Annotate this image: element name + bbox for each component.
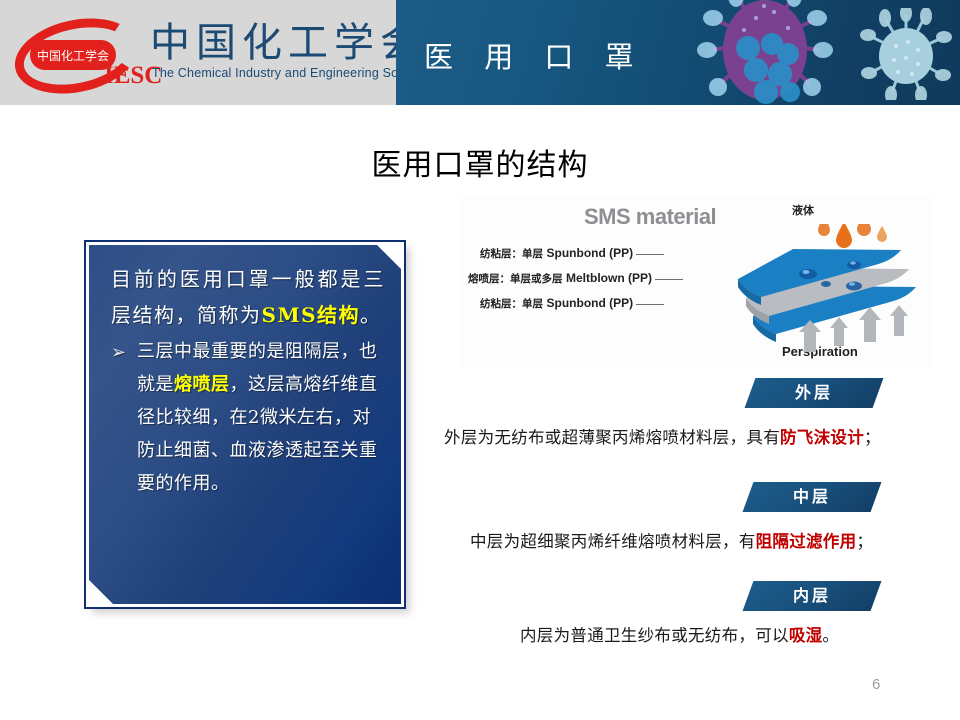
virus-blue-icon <box>858 8 954 100</box>
sms-layer-1-cn: 纺粘层：单层 <box>480 248 543 260</box>
logo-text-block: 中国化工学会 The Chemical Industry and Enginee… <box>150 0 396 105</box>
page-title: 医用口罩的结构 <box>0 140 960 184</box>
inner-text-a: 内层为普通卫生纱布或无纺布，可以 <box>520 626 789 645</box>
outer-text-b: ； <box>864 428 881 447</box>
header-banner: 医 用 口 罩 <box>396 0 960 105</box>
sms-layer-3-cn: 纺粘层：单层 <box>480 298 543 310</box>
sms-layers-illustration <box>658 224 932 364</box>
logo-area: 中国化工学会 IESC 中国化工学会 The Chemical Industry… <box>0 0 396 105</box>
inner-text-b: 。 <box>822 626 839 645</box>
middle-text-b: ； <box>856 532 873 551</box>
badge-middle-label: 中层 <box>748 482 876 512</box>
info-box-content: 目前的医用口罩一般都是三层结构，简称为SMS结构。 ➢三层中最重要的是阻隔层，也… <box>89 245 401 500</box>
sms-layer-label-1: 纺粘层：单层 Spunbond (PP) <box>480 246 664 261</box>
page-number: 6 <box>872 676 880 693</box>
badge-outer-layer: 外层 <box>745 378 884 408</box>
outer-text-a: 外层为无纺布或超薄聚丙烯熔喷材料层，具有 <box>444 428 780 447</box>
info-text-1b: 。 <box>360 303 382 327</box>
sms-layer-2-en: Meltblown (PP) <box>566 271 652 285</box>
sms-layer-label-3: 纺粘层：单层 Spunbond (PP) <box>480 296 664 311</box>
sms-layer-2-cn: 熔喷层：单层或多层 <box>468 273 563 285</box>
info-highlight-sms: SMS结构 <box>262 303 361 327</box>
virus-purple-icon <box>696 0 834 105</box>
sms-material-diagram: SMS material 纺粘层：单层 Spunbond (PP) 熔喷层：单层… <box>458 196 932 368</box>
society-logo-icon: 中国化工学会 IESC <box>0 0 150 105</box>
middle-layer-description: 中层为超细聚丙烯纤维熔喷材料层，有阻隔过滤作用； <box>470 528 960 556</box>
sms-layer-label-2: 熔喷层：单层或多层 Meltblown (PP) <box>468 271 683 286</box>
info-box-paragraph-1: 目前的医用口罩一般都是三层结构，简称为SMS结构。 <box>111 261 385 333</box>
info-highlight-meltblown: 熔喷层 <box>174 374 230 395</box>
liquid-label: 液体 <box>792 202 814 218</box>
badge-middle-layer: 中层 <box>743 482 882 512</box>
info-box: 目前的医用口罩一般都是三层结构，简称为SMS结构。 ➢三层中最重要的是阻隔层，也… <box>86 242 404 607</box>
banner-title: 医 用 口 罩 <box>424 34 645 76</box>
liquid-droplets-icon <box>818 224 887 248</box>
inner-highlight: 吸湿 <box>789 626 823 645</box>
org-name-cn: 中国化工学会 <box>150 10 426 68</box>
sms-layer-3-en: Spunbond (PP) <box>547 296 634 310</box>
middle-highlight: 阻隔过滤作用 <box>756 532 857 551</box>
info-box-paragraph-2: ➢三层中最重要的是阻隔层，也就是熔喷层，这层高熔纤维直径比较细，在2微米左右，对… <box>111 335 385 500</box>
badge-inner-layer: 内层 <box>743 581 882 611</box>
outer-layer-description: 外层为无纺布或超薄聚丙烯熔喷材料层，具有防飞沫设计； <box>444 424 944 452</box>
middle-text-a: 中层为超细聚丙烯纤维熔喷材料层，有 <box>470 532 756 551</box>
inner-layer-description: 内层为普通卫生纱布或无纺布，可以吸湿。 <box>520 622 960 650</box>
badge-outer-label: 外层 <box>750 378 878 408</box>
slide-header: 中国化工学会 IESC 中国化工学会 The Chemical Industry… <box>0 0 960 105</box>
badge-inner-label: 内层 <box>748 581 876 611</box>
sms-layer-1-en: Spunbond (PP) <box>547 246 634 260</box>
outer-highlight: 防飞沫设计 <box>780 428 864 447</box>
bullet-arrow-icon: ➢ <box>111 336 127 369</box>
